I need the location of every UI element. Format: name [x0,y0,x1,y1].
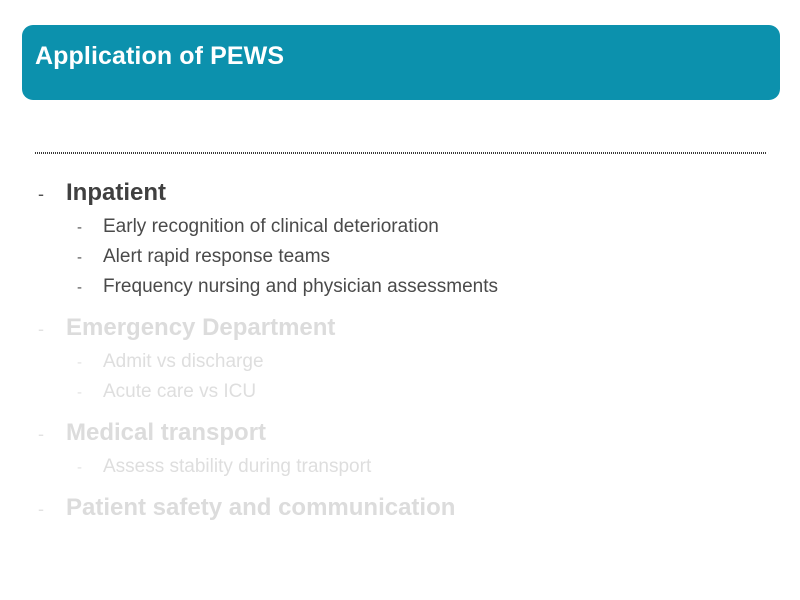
dash-bullet-icon: - [77,385,103,400]
outline-subitem: -Early recognition of clinical deteriora… [0,217,800,247]
outline-subitem: -Assess stability during transport [0,457,800,487]
outline-subitem-label: Admit vs discharge [103,352,264,371]
dotted-divider [35,152,766,154]
page-title: Application of PEWS [35,42,284,71]
outline-section: -Inpatient [0,181,800,217]
dash-bullet-icon: - [38,320,66,338]
outline-list: -Inpatient-Early recognition of clinical… [0,181,800,532]
title-banner: Application of PEWS [22,25,780,100]
outline-subitem-label: Acute care vs ICU [103,382,256,401]
outline-section: -Patient safety and communication [0,496,800,532]
dash-bullet-icon: - [77,220,103,235]
dash-bullet-icon: - [77,250,103,265]
outline-subitem-label: Assess stability during transport [103,457,371,476]
outline-section-label: Inpatient [66,181,166,205]
dash-bullet-icon: - [77,355,103,370]
outline-subitem-label: Early recognition of clinical deteriorat… [103,217,439,236]
slide-canvas: Application of PEWS -Inpatient-Early rec… [0,0,800,600]
dash-bullet-icon: - [38,425,66,443]
outline-subitem-label: Alert rapid response teams [103,247,330,266]
outline-section-label: Emergency Department [66,316,335,340]
outline-subitem: -Acute care vs ICU [0,382,800,412]
dash-bullet-icon: - [38,185,66,203]
outline-subitem: -Admit vs discharge [0,352,800,382]
dash-bullet-icon: - [77,460,103,475]
dash-bullet-icon: - [38,500,66,518]
outline-subitem: -Alert rapid response teams [0,247,800,277]
outline-subitem: -Frequency nursing and physician assessm… [0,277,800,307]
dash-bullet-icon: - [77,280,103,295]
outline-section: -Medical transport [0,421,800,457]
outline-subitem-label: Frequency nursing and physician assessme… [103,277,498,296]
outline-section-label: Patient safety and communication [66,496,455,520]
outline-section-label: Medical transport [66,421,266,445]
outline-section: -Emergency Department [0,316,800,352]
